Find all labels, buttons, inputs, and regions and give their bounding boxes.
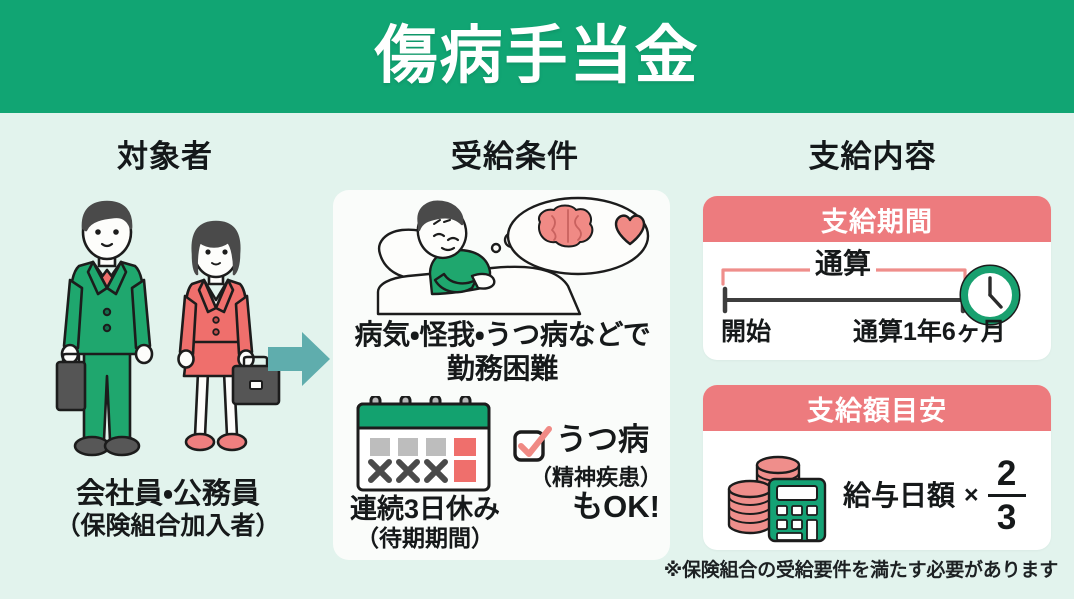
formula-term: 給与日額 [843,482,955,510]
benefit-card-period: 支給期間 通算 [703,196,1051,360]
target-caption: 会社員・公務員 （保険組合加入者） [18,478,318,542]
header-band: 傷病手当金 [0,0,1074,113]
column-heading-benefits: 支給内容 [700,141,1045,172]
sick-person-illustration [372,196,654,322]
checked-checkbox-icon [512,426,552,464]
waiting-period-caption: 連続3日休み （待期期間） [336,495,514,551]
formula-times-sign: × [964,483,979,508]
column-heading-target: 対象者 [40,141,290,172]
target-caption-main: 会社員・公務員 [18,478,318,510]
depression-label: うつ病 [556,424,649,457]
depression-ok-row: うつ病 [512,424,664,464]
benefit-card-amount: 支給額目安 [703,385,1051,550]
waiting-period-sub: （待期期間） [336,525,514,551]
target-caption-sub: （保険組合加入者） [18,512,318,542]
depression-ok-label: もOK! [512,491,664,524]
benefit-card-period-title: 支給期間 [703,196,1051,242]
infographic-page: 傷病手当金 対象者 受給条件 支給内容 [0,0,1074,599]
formula-denominator: 3 [992,499,1021,536]
depression-ok-block: うつ病 （精神疾患） もOK! [512,424,664,524]
benefit-amount-formula: 給与日額 × 2 3 [843,455,1026,536]
footnote: ※保険組合の受給要件を満たす必要があります [664,561,1058,580]
benefit-card-amount-body: 給与日額 × 2 3 [703,431,1051,550]
timeline-start-label: 開始 [721,320,771,345]
condition-line-2: 勤務困難 [340,352,665,386]
column-heading-conditions: 受給条件 [370,141,660,172]
condition-description: 病気・怪我・うつ病などで 勤務困難 [340,318,665,385]
condition-line-1: 病気・怪我・うつ病などで [354,319,650,350]
depression-sub-label: （精神疾患） [512,465,664,491]
business-people-illustration [48,196,284,474]
formula-numerator: 2 [992,455,1021,492]
page-title: 傷病手当金 [375,25,700,88]
waiting-period-main: 連続3日休み [336,495,514,525]
coins-calculator-icon [725,445,831,543]
timeline-bracket-label: 通算 [810,250,876,278]
calendar-icon [352,396,495,494]
timeline-end-label: 通算1年6ヶ月 [853,320,1006,345]
right-arrow-icon [268,330,330,388]
fraction-bar [988,494,1026,497]
benefit-card-amount-title: 支給額目安 [703,385,1051,431]
formula-fraction: 2 3 [988,455,1026,536]
benefit-card-period-body: 通算 開始 通算1年6ヶ月 [703,242,1051,360]
